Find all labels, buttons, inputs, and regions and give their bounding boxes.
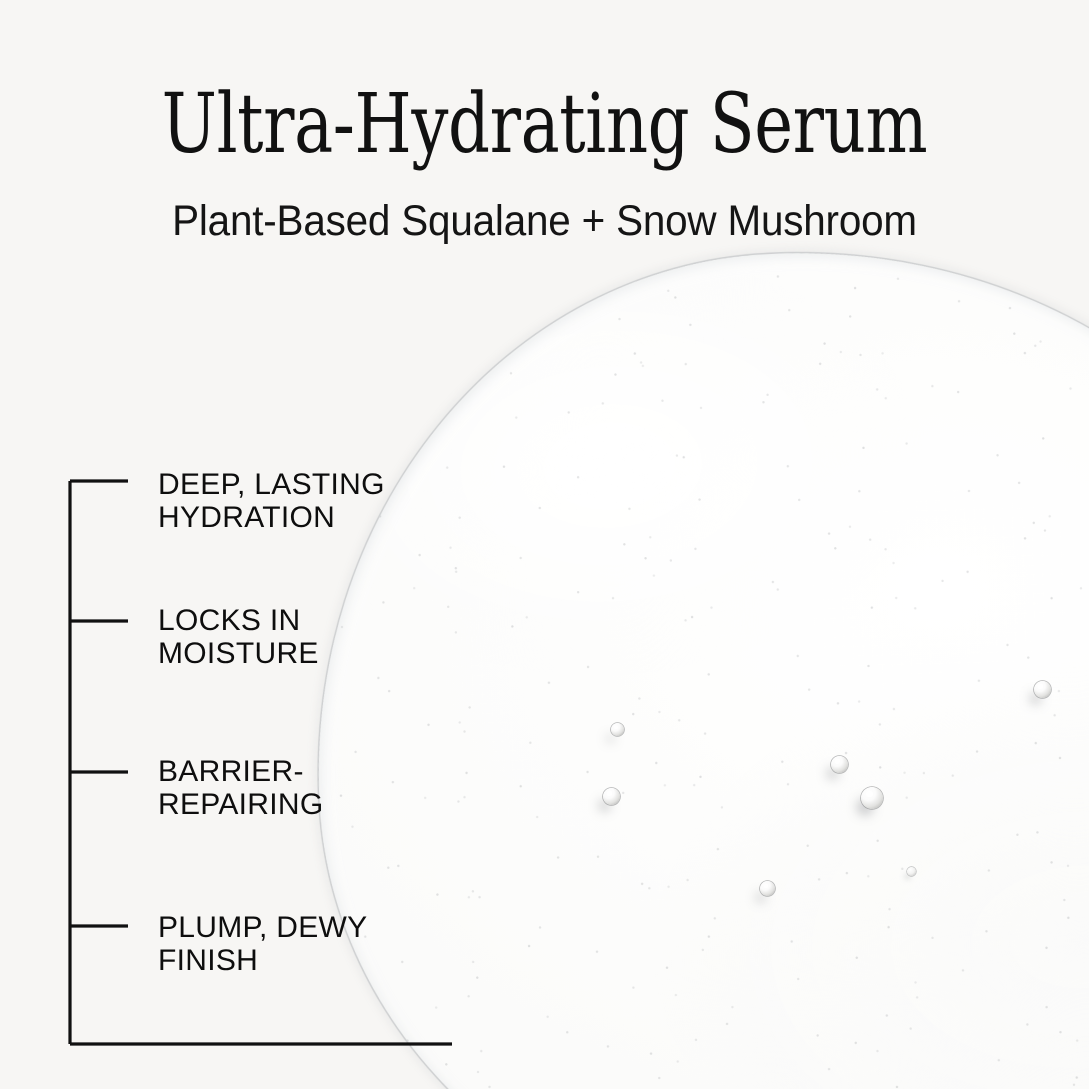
benefit-item-1: DEEP, LASTING HYDRATION [158,468,385,534]
benefit-list: DEEP, LASTING HYDRATION LOCKS IN MOISTUR… [0,0,1089,1089]
benefit-item-4: PLUMP, DEWY FINISH [158,911,367,977]
benefit-item-2: LOCKS IN MOISTURE [158,604,319,670]
benefit-item-3: BARRIER- REPAIRING [158,755,324,821]
product-infographic: Ultra-Hydrating Serum Plant-Based Squala… [0,0,1089,1089]
